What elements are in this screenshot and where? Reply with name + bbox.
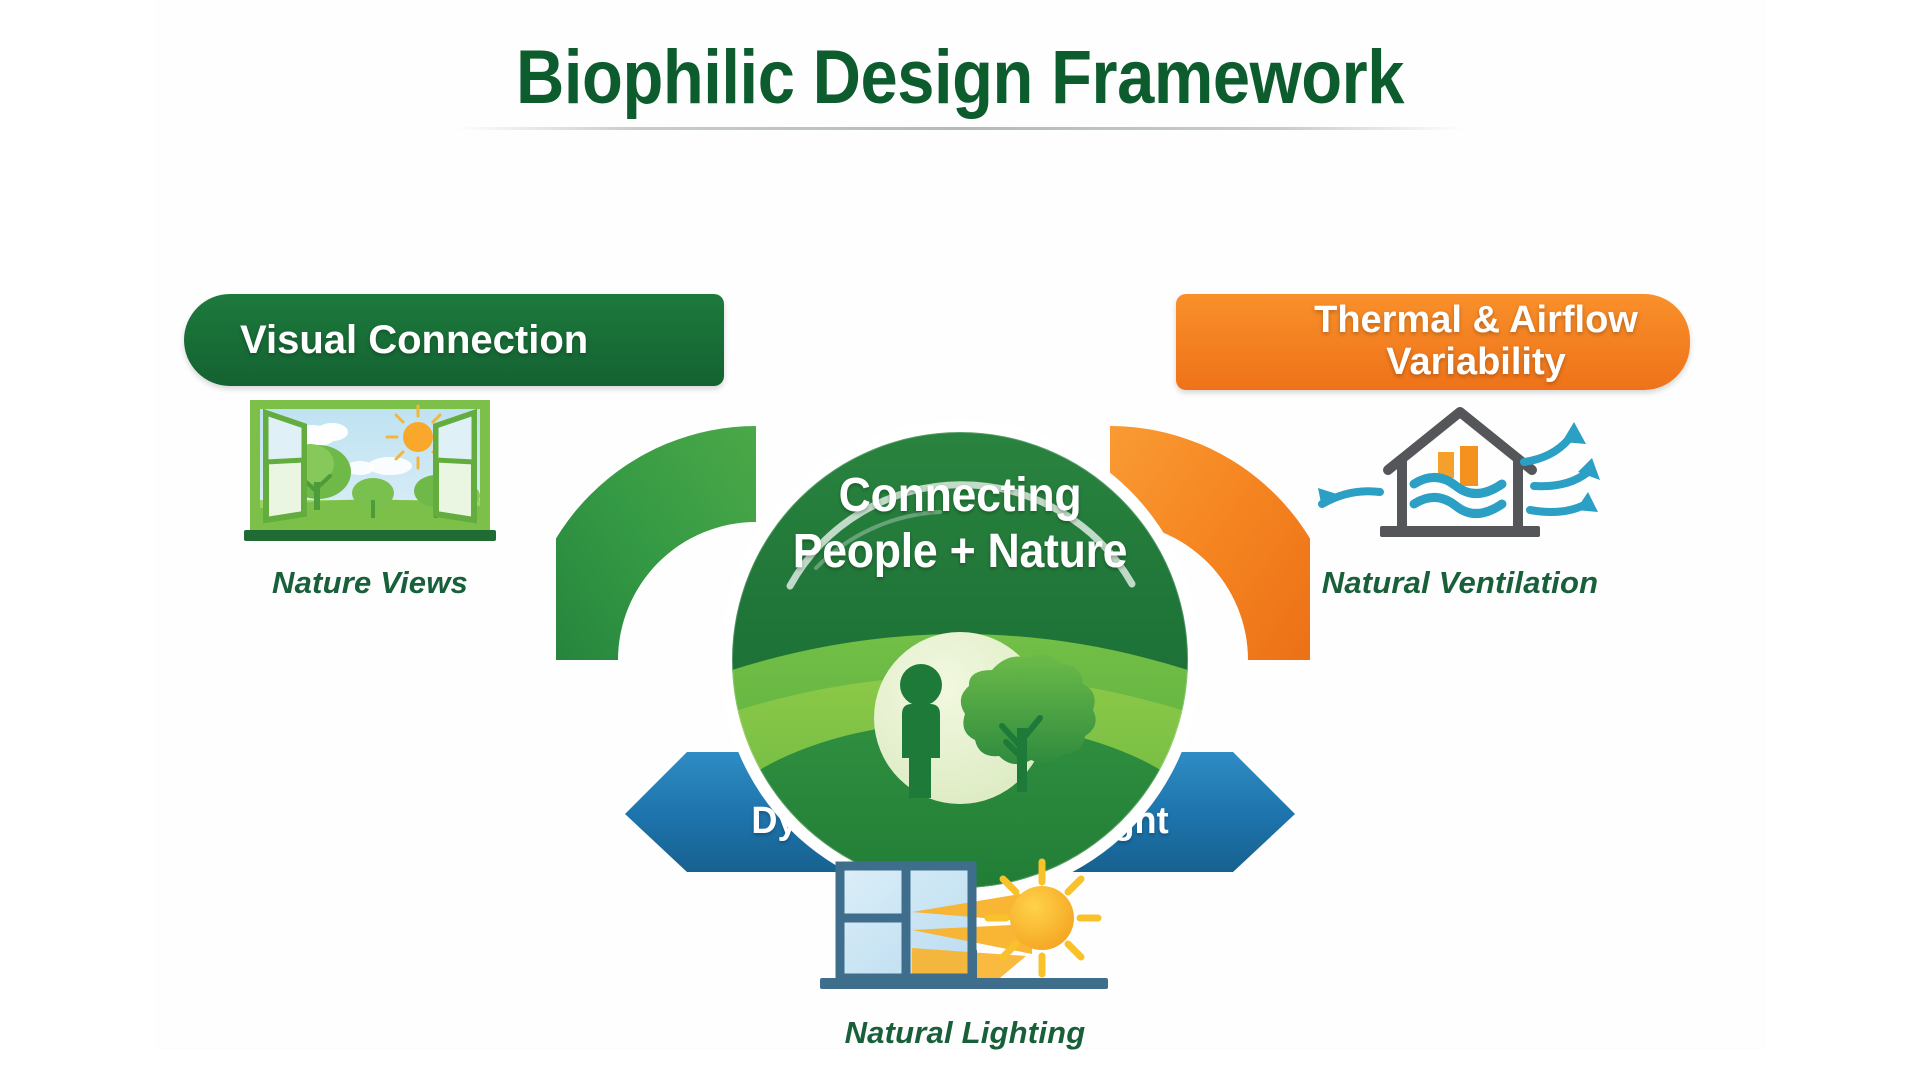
page-title: Biophilic Design Framework <box>115 38 1805 118</box>
caption-natural-ventilation: Natural Ventilation <box>1310 565 1610 601</box>
house-airflow-icon <box>1310 400 1610 550</box>
open-window-nature-view-icon <box>240 396 500 546</box>
infographic-canvas: Biophilic Design Framework <box>0 0 1920 1080</box>
title-divider <box>455 127 1465 130</box>
window-sun-rays-icon <box>800 852 1130 1002</box>
page-title-block: Biophilic Design Framework <box>0 38 1920 118</box>
branch-label-line2: Variability <box>1386 341 1566 383</box>
caption-nature-views: Nature Views <box>240 565 500 601</box>
branch-label-visual-connection[interactable]: Visual Connection <box>184 294 724 386</box>
icon-block-natural-ventilation: Natural Ventilation <box>1310 400 1610 601</box>
icon-block-nature-views: Nature Views <box>240 396 500 601</box>
branch-label-line1: Thermal & Airflow <box>1314 299 1638 341</box>
branch-label-thermal-airflow-variability[interactable]: Thermal & Airflow Variability <box>1176 294 1690 390</box>
icon-block-natural-lighting: Natural Lighting <box>800 852 1130 1051</box>
caption-natural-lighting: Natural Lighting <box>800 1015 1130 1051</box>
